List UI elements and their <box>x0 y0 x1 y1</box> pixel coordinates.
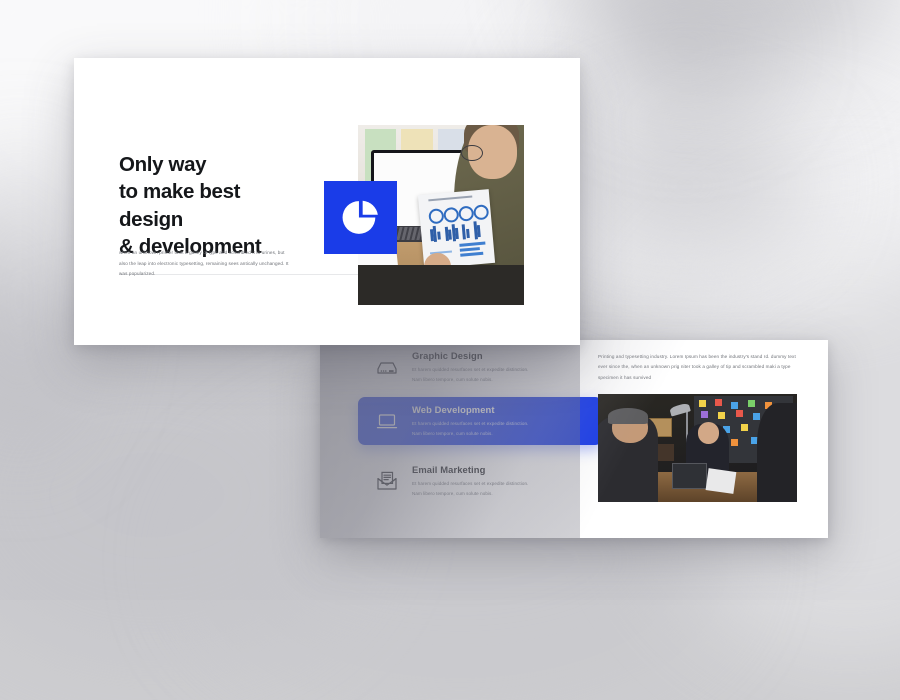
hard-drive-icon <box>374 354 400 380</box>
pie-chart-icon <box>341 198 380 237</box>
service-item-email-marketing[interactable]: Email Marketing Et harem quidded resurfa… <box>358 457 602 505</box>
service-title: Email Marketing <box>412 464 528 475</box>
envelope-document-icon <box>374 468 400 494</box>
service-description-line2: Nam libero tempore, cum solute nobis. <box>412 429 528 438</box>
service-description-line2: Nam libero tempore, cum solute nobis. <box>412 375 528 384</box>
service-item-web-development[interactable]: Web Development Et harem quidded resurfa… <box>358 397 602 445</box>
service-description-line1: Et harem quidded resurfaces set et exped… <box>412 365 528 374</box>
service-description-line1: Et harem quidded resurfaces set et exped… <box>412 479 528 488</box>
title-slide[interactable]: Only way to make best design & developme… <box>74 58 580 345</box>
service-description-line1: Et harem quidded resurfaces set et exped… <box>412 419 528 428</box>
service-item-graphic-design[interactable]: Graphic Design Et harem quidded resurfac… <box>358 343 602 391</box>
meeting-photo <box>598 394 797 502</box>
title-slide-paragraph: when an unknown printer took a galley of… <box>119 248 294 280</box>
service-title: Web Development <box>412 404 528 415</box>
services-slide[interactable]: Graphic Design Et harem quidded resurfac… <box>320 340 828 538</box>
services-paragraph: Printing and typesetting industry. Lorem… <box>598 352 806 383</box>
shadow-blob <box>560 110 810 260</box>
laptop-icon <box>374 408 400 434</box>
page-title: Only way to make best design & developme… <box>119 151 261 260</box>
service-title: Graphic Design <box>412 350 528 361</box>
pie-chart-badge <box>324 181 397 254</box>
service-description-line2: Nam libero tempore, cum solute nobis. <box>412 489 528 498</box>
